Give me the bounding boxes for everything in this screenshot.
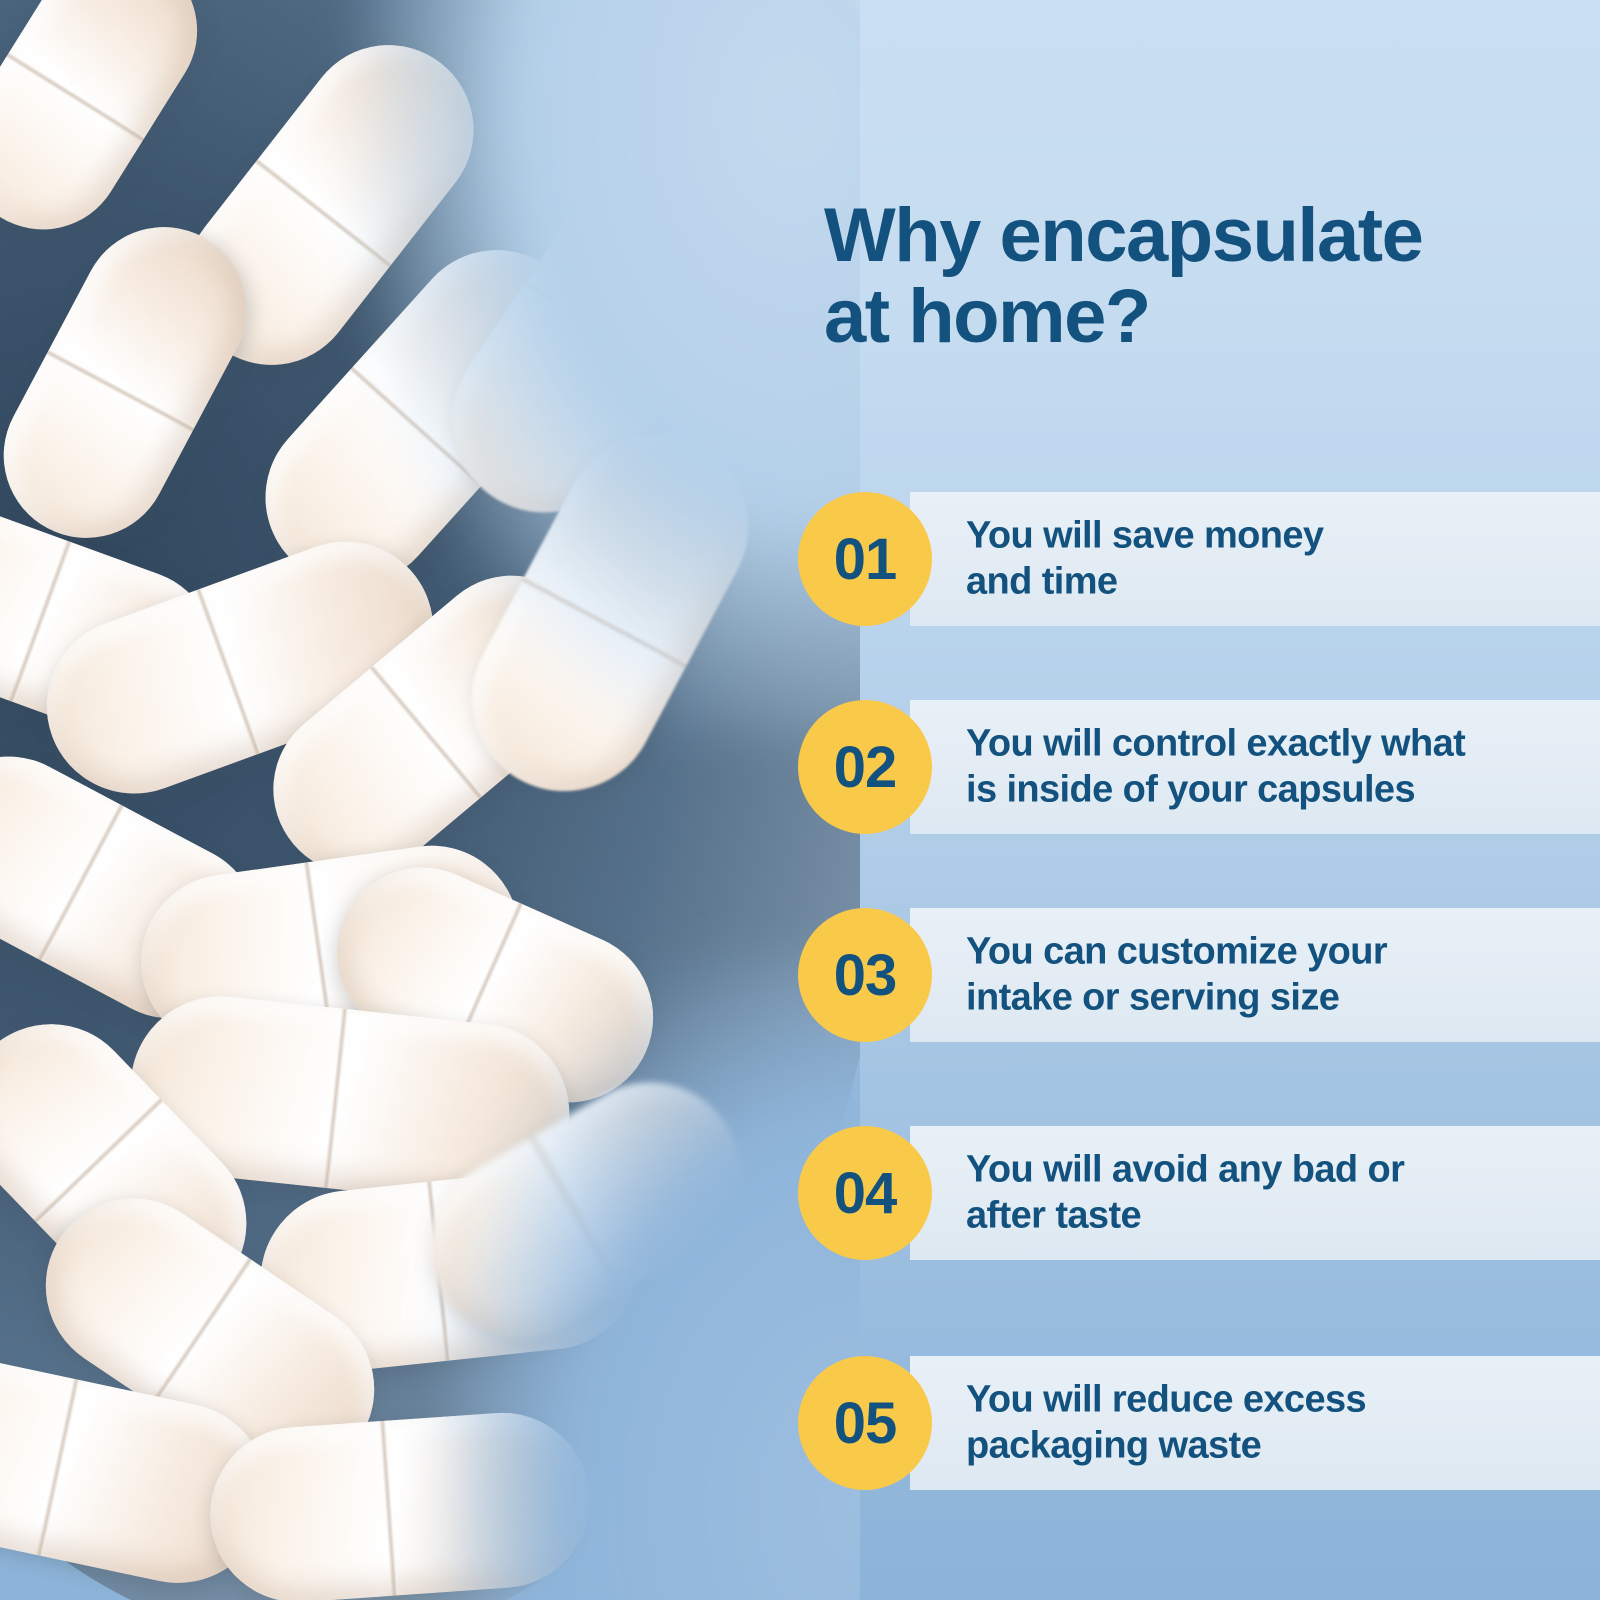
list-item-text-line2: is inside of your capsules: [966, 767, 1580, 813]
list-item-text-line2: after taste: [966, 1193, 1580, 1239]
list-item: 02 You will control exactly what is insi…: [798, 700, 1600, 834]
infographic-canvas: Why encapsulate at home? 01 You will sav…: [0, 0, 1600, 1600]
list-item-text-line1: You will control exactly what: [966, 721, 1580, 767]
list-item: 03 You can customize your intake or serv…: [798, 908, 1600, 1042]
list-item-text-line1: You will avoid any bad or: [966, 1147, 1580, 1193]
list-item: 05 You will reduce excess packaging wast…: [798, 1356, 1600, 1490]
list-item-text-line2: and time: [966, 559, 1580, 605]
list-item-number-badge: 02: [798, 700, 932, 834]
list-item-number-badge: 04: [798, 1126, 932, 1260]
list-item-number-badge: 01: [798, 492, 932, 626]
list-item-text-line2: intake or serving size: [966, 975, 1580, 1021]
list-item-number-badge: 03: [798, 908, 932, 1042]
list-item-text: You will reduce excess packaging waste: [966, 1377, 1580, 1470]
list-item-text-line2: packaging waste: [966, 1423, 1580, 1469]
list-item-text: You will control exactly what is inside …: [966, 721, 1580, 814]
benefits-list: 01 You will save money and time 02 You w…: [0, 0, 1600, 1600]
list-item-text: You will save money and time: [966, 513, 1580, 606]
list-item-text: You will avoid any bad or after taste: [966, 1147, 1580, 1240]
list-item-text-line1: You can customize your: [966, 929, 1580, 975]
list-item-text: You can customize your intake or serving…: [966, 929, 1580, 1022]
list-item: 04 You will avoid any bad or after taste: [798, 1126, 1600, 1260]
list-item: 01 You will save money and time: [798, 492, 1600, 626]
list-item-number-badge: 05: [798, 1356, 932, 1490]
list-item-text-line1: You will reduce excess: [966, 1377, 1580, 1423]
list-item-text-line1: You will save money: [966, 513, 1580, 559]
